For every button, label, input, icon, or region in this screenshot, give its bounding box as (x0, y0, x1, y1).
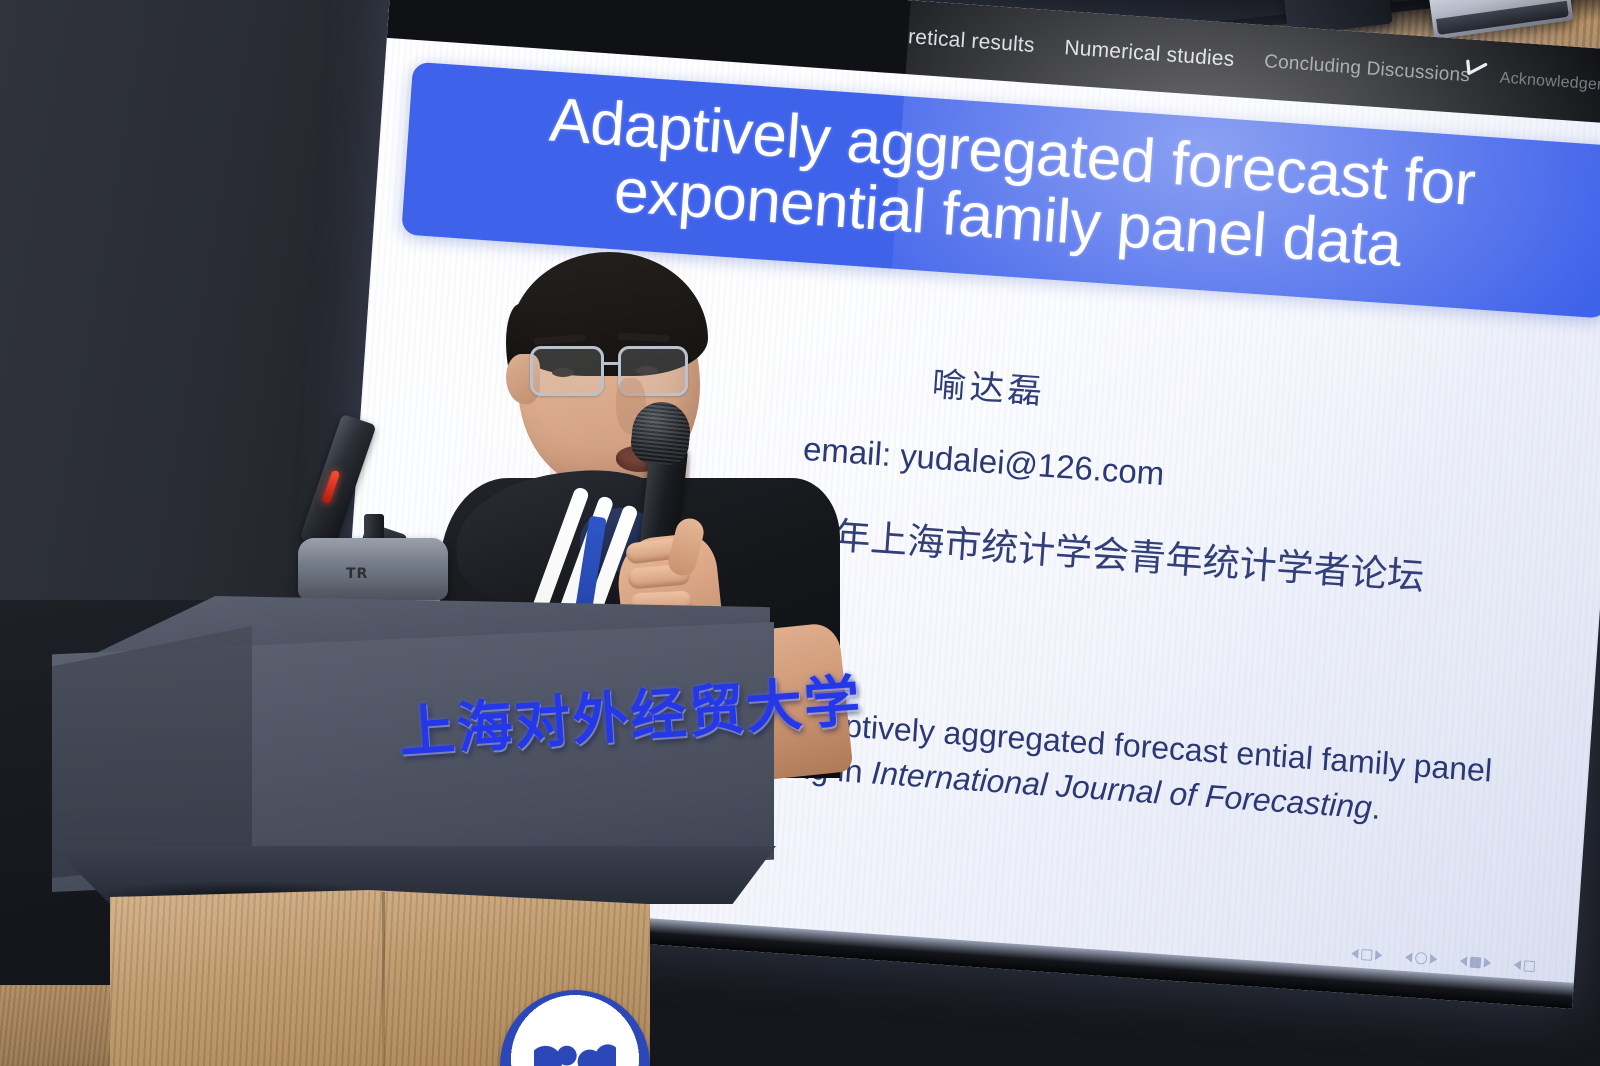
navsym-separator-2 (1444, 960, 1453, 961)
nav-item-acknowledgements[interactable]: Acknowledgem (1499, 70, 1600, 96)
navsym-slide-group[interactable] (1351, 948, 1383, 961)
next-section-icon[interactable] (1484, 958, 1492, 968)
check-icon (1462, 57, 1490, 85)
section-box-icon[interactable] (1470, 956, 1482, 968)
prev-section-icon[interactable] (1460, 956, 1468, 966)
navsym-doc-group[interactable] (1514, 959, 1536, 971)
lectern-podium: 上海对外经贸大学 (30, 560, 820, 1066)
navsym-frame-group[interactable] (1405, 951, 1438, 965)
citation-suffix: . (1371, 789, 1382, 826)
navsym-separator-3 (1498, 964, 1507, 965)
frame-circle-icon[interactable] (1415, 952, 1428, 965)
back-icon[interactable] (1514, 960, 1522, 970)
podium-base-corner (382, 892, 385, 1066)
glasses-lens-left (530, 346, 604, 396)
citation-journal-line1: International (870, 754, 1048, 802)
nav-item-numerical-studies[interactable]: Numerical studies (1064, 36, 1236, 72)
navsym-section-group[interactable] (1460, 955, 1492, 968)
prev-slide-icon[interactable] (1351, 948, 1359, 958)
nav-item-concluding-discussions[interactable]: Concluding Discussions (1263, 51, 1470, 87)
navsym-separator-1 (1389, 956, 1398, 957)
doc-box-icon[interactable] (1524, 960, 1536, 972)
prev-frame-icon[interactable] (1405, 952, 1413, 962)
next-frame-icon[interactable] (1430, 954, 1438, 964)
podium-side-panel (52, 626, 252, 878)
presentation-photo-scene: retical results Numerical studies Conclu… (0, 0, 1600, 1066)
next-slide-icon[interactable] (1375, 950, 1383, 960)
slide-box-icon[interactable] (1361, 949, 1373, 961)
nav-item-theoretical-results[interactable]: retical results (907, 25, 1035, 58)
